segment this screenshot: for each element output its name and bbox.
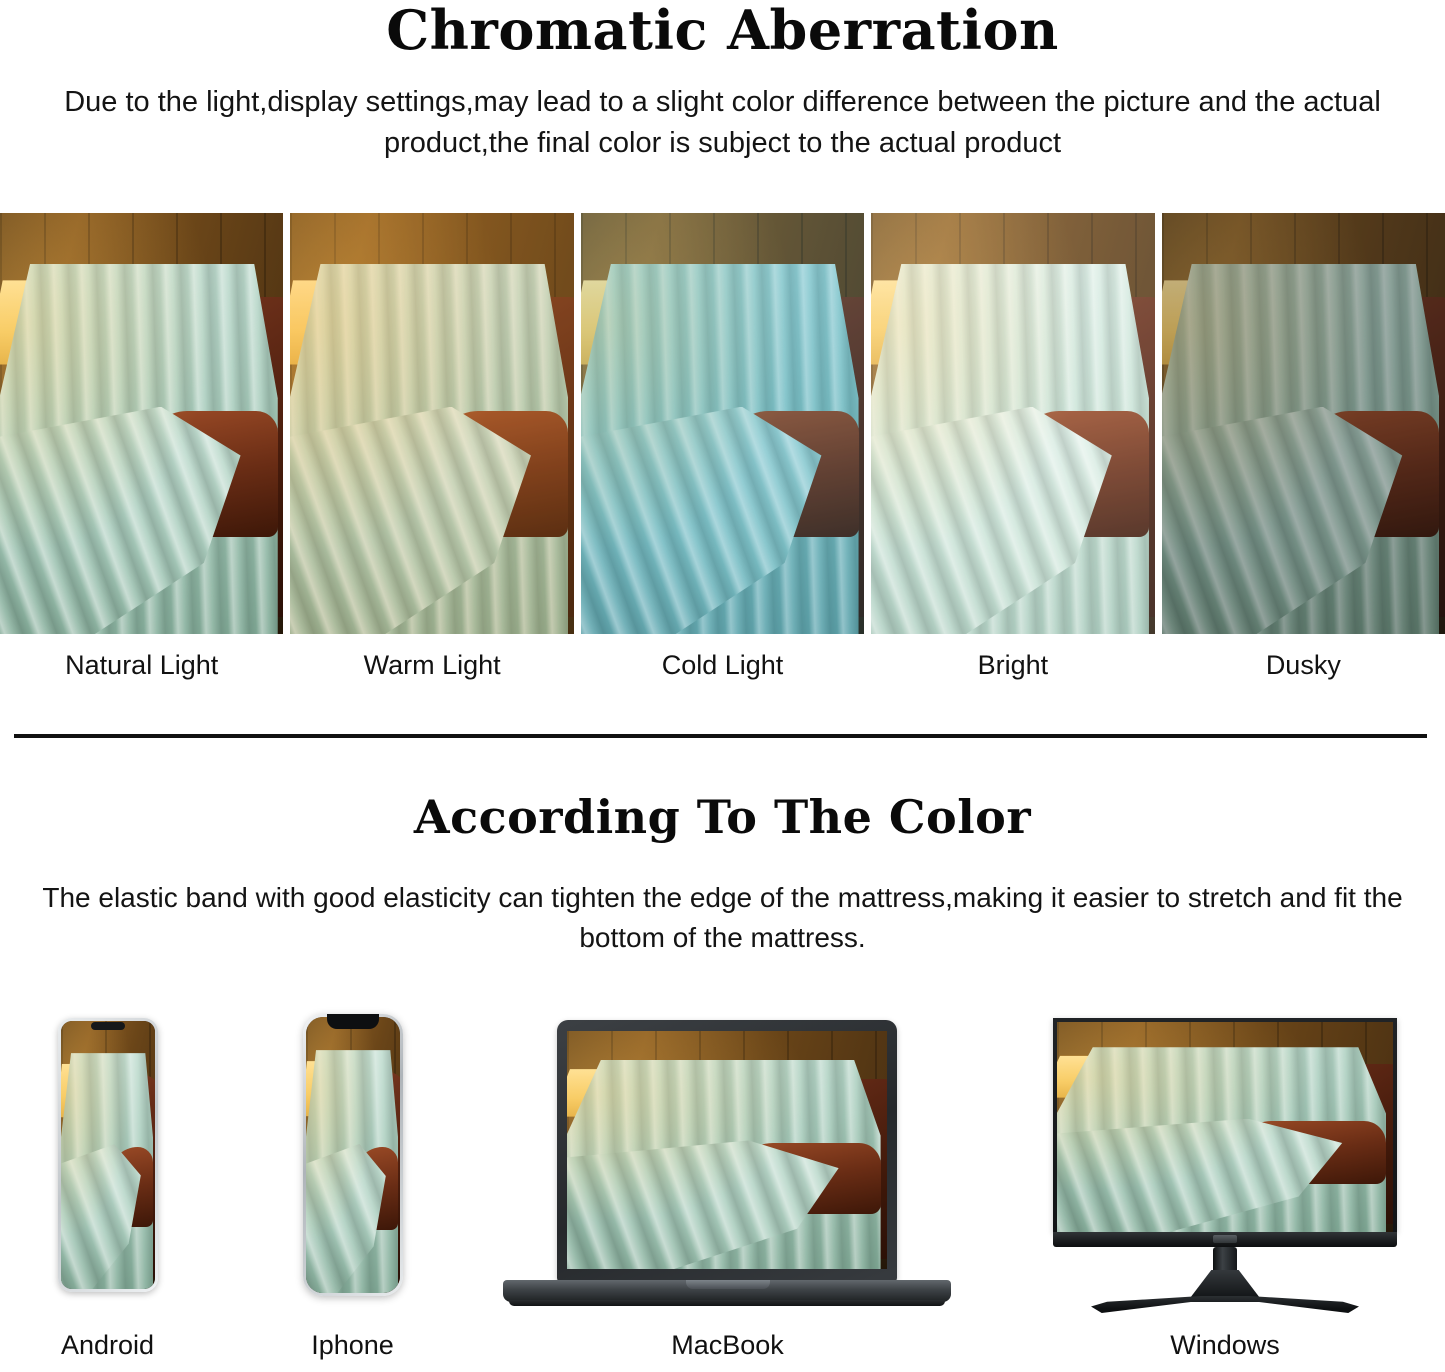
monitor-neck bbox=[1213, 1247, 1237, 1273]
lighting-panel-label: Warm Light bbox=[290, 650, 573, 692]
macbook-lid bbox=[557, 1020, 897, 1282]
lighting-panel-label: Bright bbox=[871, 650, 1154, 692]
monitor-screen bbox=[1057, 1022, 1393, 1232]
device-label: MacBook bbox=[495, 1330, 960, 1361]
lighting-panel-bright bbox=[871, 213, 1154, 634]
device-label: Iphone bbox=[265, 1330, 440, 1361]
iphone-screen bbox=[306, 1017, 400, 1293]
android-screen bbox=[61, 1021, 155, 1289]
monitor-logo bbox=[1213, 1235, 1237, 1243]
device-display-comparison-row: AndroidIphoneMacBookWindows bbox=[0, 1000, 1445, 1372]
iphone-notch bbox=[327, 1014, 379, 1029]
lighting-comparison-captions: Natural LightWarm LightCold LightBrightD… bbox=[0, 650, 1445, 692]
monitor-bezel bbox=[1053, 1018, 1397, 1232]
device-label: Android bbox=[20, 1330, 195, 1361]
product-photo bbox=[1057, 1022, 1393, 1232]
device-label: Windows bbox=[1025, 1330, 1425, 1361]
chromatic-aberration-subtitle: Due to the light,display settings,may le… bbox=[0, 82, 1445, 164]
lighting-panel-cold-light bbox=[581, 213, 864, 634]
lighting-panel-label: Natural Light bbox=[0, 650, 283, 692]
product-photo bbox=[567, 1031, 887, 1269]
lighting-panel-label: Dusky bbox=[1162, 650, 1445, 692]
product-photo bbox=[0, 213, 283, 634]
page-title-chromatic-aberration: Chromatic Aberration bbox=[0, 0, 1445, 62]
macbook-foot bbox=[509, 1300, 945, 1306]
product-photo bbox=[1162, 213, 1445, 634]
product-photo bbox=[871, 213, 1154, 634]
macbook-lid-notch bbox=[686, 1280, 770, 1289]
lighting-panel-warm-light bbox=[290, 213, 573, 634]
according-to-the-color-subtitle: The elastic band with good elasticity ca… bbox=[0, 878, 1445, 958]
lighting-panel-label: Cold Light bbox=[581, 650, 864, 692]
product-photo bbox=[581, 213, 864, 634]
android-camera-cutout bbox=[91, 1022, 125, 1030]
product-photo bbox=[61, 1021, 155, 1289]
page-title-according-to-the-color: According To The Color bbox=[0, 790, 1445, 844]
monitor-stand-feet bbox=[1091, 1296, 1359, 1313]
lighting-panel-dusky bbox=[1162, 213, 1445, 634]
android-phone-body bbox=[58, 1018, 158, 1292]
macbook-screen bbox=[567, 1031, 887, 1269]
lighting-comparison-strip bbox=[0, 213, 1445, 634]
iphone-body bbox=[303, 1014, 403, 1296]
product-photo bbox=[306, 1017, 400, 1293]
product-photo bbox=[290, 213, 573, 634]
lighting-panel-natural-light bbox=[0, 213, 283, 634]
section-divider bbox=[14, 734, 1427, 738]
